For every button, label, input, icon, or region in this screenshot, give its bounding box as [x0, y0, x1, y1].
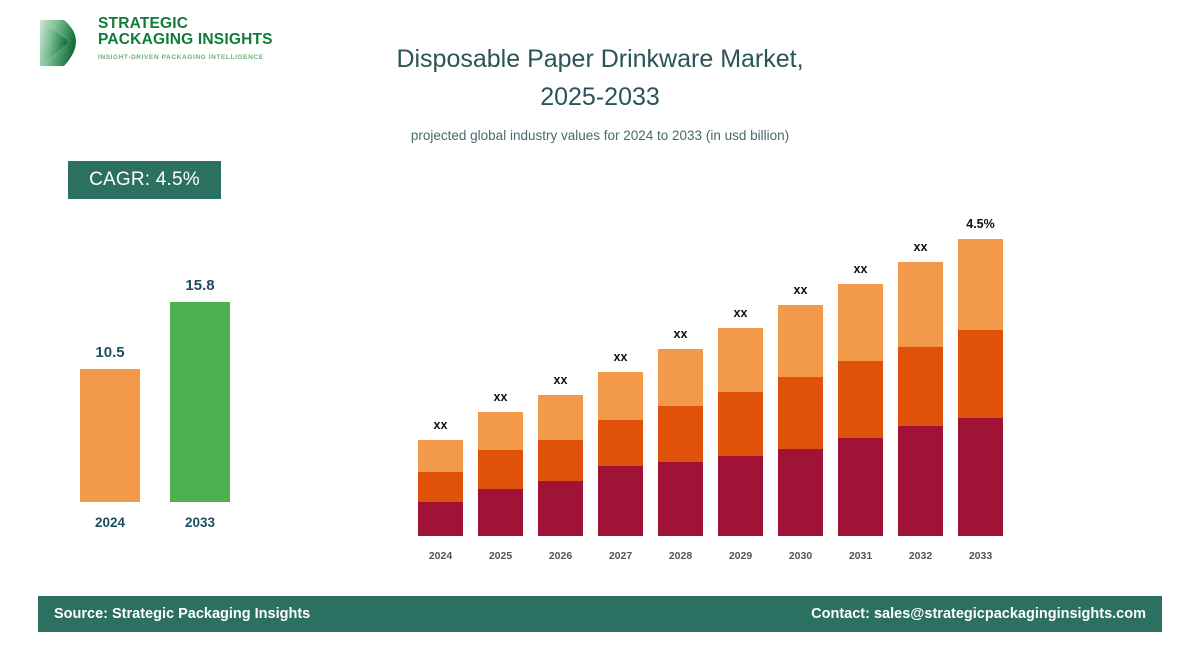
logo-line-2: PACKAGING INSIGHTS [98, 32, 273, 48]
stacked-bar[interactable] [778, 305, 823, 536]
stacked-bar-segment[interactable] [898, 262, 943, 347]
stacked-bar-group: xx2024 [418, 180, 463, 570]
stacked-bar-segment[interactable] [598, 420, 643, 466]
stacked-bar[interactable] [598, 372, 643, 536]
page-title-line-2: 2025-2033 [310, 78, 890, 116]
comparison-bar-group: 10.52024 [80, 369, 140, 536]
stacked-bar-group: xx2025 [478, 180, 523, 570]
stacked-bar-segment[interactable] [778, 305, 823, 377]
stacked-bar-segment[interactable] [838, 438, 883, 536]
stacked-bar-value-label: xx [554, 373, 568, 387]
stacked-bar-x-label: 2031 [849, 550, 872, 562]
stacked-bar-segment[interactable] [418, 472, 463, 502]
stacked-bar-segment[interactable] [478, 450, 523, 489]
stacked-bar-segment[interactable] [718, 456, 763, 536]
stacked-bar[interactable] [958, 239, 1003, 536]
stacked-bar-group: xx2027 [598, 180, 643, 570]
stacked-bar-group: 4.5%2033 [958, 180, 1003, 570]
stacked-bar-x-label: 2028 [669, 550, 692, 562]
stacked-bar-value-label: xx [614, 350, 628, 364]
stacked-bar-segment[interactable] [658, 406, 703, 462]
cagr-badge: CAGR: 4.5% [68, 161, 221, 199]
stacked-bar-x-label: 2032 [909, 550, 932, 562]
stacked-bar-segment[interactable] [718, 328, 763, 392]
chevron-right-icon [36, 18, 90, 68]
stacked-bar-segment[interactable] [658, 349, 703, 406]
stacked-bar-x-label: 2024 [429, 550, 452, 562]
stacked-bar-segment[interactable] [718, 392, 763, 456]
stacked-bar-value-label: xx [734, 306, 748, 320]
chart-page: STRATEGIC PACKAGING INSIGHTS INSIGHT-DRI… [0, 0, 1200, 650]
title-block: Disposable Paper Drinkware Market, 2025-… [310, 40, 890, 143]
stacked-forecast-chart: xx2024xx2025xx2026xx2027xx2028xx2029xx20… [400, 180, 1020, 570]
logo-tagline: INSIGHT-DRIVEN PACKAGING INTELLIGENCE [98, 54, 273, 61]
stacked-bar-segment[interactable] [418, 440, 463, 472]
page-title-line-1: Disposable Paper Drinkware Market, [310, 40, 890, 78]
page-subtitle: projected global industry values for 202… [310, 128, 890, 143]
stacked-bar[interactable] [898, 262, 943, 536]
comparison-bar-value: 15.8 [185, 277, 214, 294]
stacked-bar-group: xx2030 [778, 180, 823, 570]
stacked-bar-segment[interactable] [958, 418, 1003, 536]
stacked-bar[interactable] [478, 412, 523, 536]
stacked-bar-value-label: xx [854, 262, 868, 276]
footer-bar: Source: Strategic Packaging Insights Con… [38, 596, 1162, 632]
stacked-bar-value-label: 4.5% [966, 217, 995, 231]
stacked-bar-x-label: 2026 [549, 550, 572, 562]
comparison-bar[interactable] [80, 369, 140, 502]
stacked-bar-segment[interactable] [898, 347, 943, 426]
page-title: Disposable Paper Drinkware Market, 2025-… [310, 40, 890, 116]
stacked-bar-x-label: 2025 [489, 550, 512, 562]
stacked-bar-segment[interactable] [778, 449, 823, 536]
stacked-bar-segment[interactable] [598, 466, 643, 536]
stacked-bar-segment[interactable] [538, 481, 583, 536]
comparison-bar[interactable] [170, 302, 230, 502]
stacked-bar-x-label: 2029 [729, 550, 752, 562]
stacked-bar-segment[interactable] [418, 502, 463, 536]
stacked-bar-segment[interactable] [958, 330, 1003, 418]
stacked-bar-x-label: 2030 [789, 550, 812, 562]
footer-contact[interactable]: Contact: sales@strategicpackaginginsight… [811, 606, 1146, 622]
stacked-bar-segment[interactable] [538, 395, 583, 440]
stacked-bar-value-label: xx [494, 390, 508, 404]
comparison-bar-group: 15.82033 [170, 302, 230, 536]
stacked-bar[interactable] [658, 349, 703, 536]
stacked-bar-segment[interactable] [778, 377, 823, 449]
stacked-bar-group: xx2031 [838, 180, 883, 570]
stacked-bar-segment[interactable] [838, 284, 883, 361]
stacked-bar[interactable] [418, 440, 463, 536]
stacked-bar-group: xx2026 [538, 180, 583, 570]
brand-logo: STRATEGIC PACKAGING INSIGHTS INSIGHT-DRI… [36, 14, 251, 76]
stacked-bar-group: xx2028 [658, 180, 703, 570]
stacked-bar-segment[interactable] [478, 412, 523, 450]
stacked-bar-value-label: xx [914, 240, 928, 254]
stacked-bar-value-label: xx [434, 418, 448, 432]
stacked-bar-segment[interactable] [598, 372, 643, 420]
comparison-bar-label: 2033 [185, 515, 215, 530]
stacked-bar-group: xx2032 [898, 180, 943, 570]
stacked-bar-group: xx2029 [718, 180, 763, 570]
stacked-bar-segment[interactable] [478, 489, 523, 536]
comparison-bar-label: 2024 [95, 515, 125, 530]
stacked-bar[interactable] [718, 328, 763, 536]
stacked-bar-segment[interactable] [958, 239, 1003, 330]
stacked-bar[interactable] [838, 284, 883, 536]
logo-line-1: STRATEGIC [98, 16, 273, 32]
stacked-bar-x-label: 2027 [609, 550, 632, 562]
stacked-bar-x-label: 2033 [969, 550, 992, 562]
stacked-bar[interactable] [538, 395, 583, 536]
stacked-bar-segment[interactable] [838, 361, 883, 438]
stacked-bar-segment[interactable] [658, 462, 703, 536]
comparison-bar-value: 10.5 [95, 344, 124, 361]
footer-source: Source: Strategic Packaging Insights [54, 606, 310, 622]
stacked-bar-segment[interactable] [898, 426, 943, 536]
stacked-bar-value-label: xx [674, 327, 688, 341]
logo-wordmark: STRATEGIC PACKAGING INSIGHTS INSIGHT-DRI… [98, 16, 273, 61]
stacked-bar-segment[interactable] [538, 440, 583, 481]
stacked-bar-value-label: xx [794, 283, 808, 297]
comparison-chart: 10.5202415.82033 [60, 300, 280, 570]
